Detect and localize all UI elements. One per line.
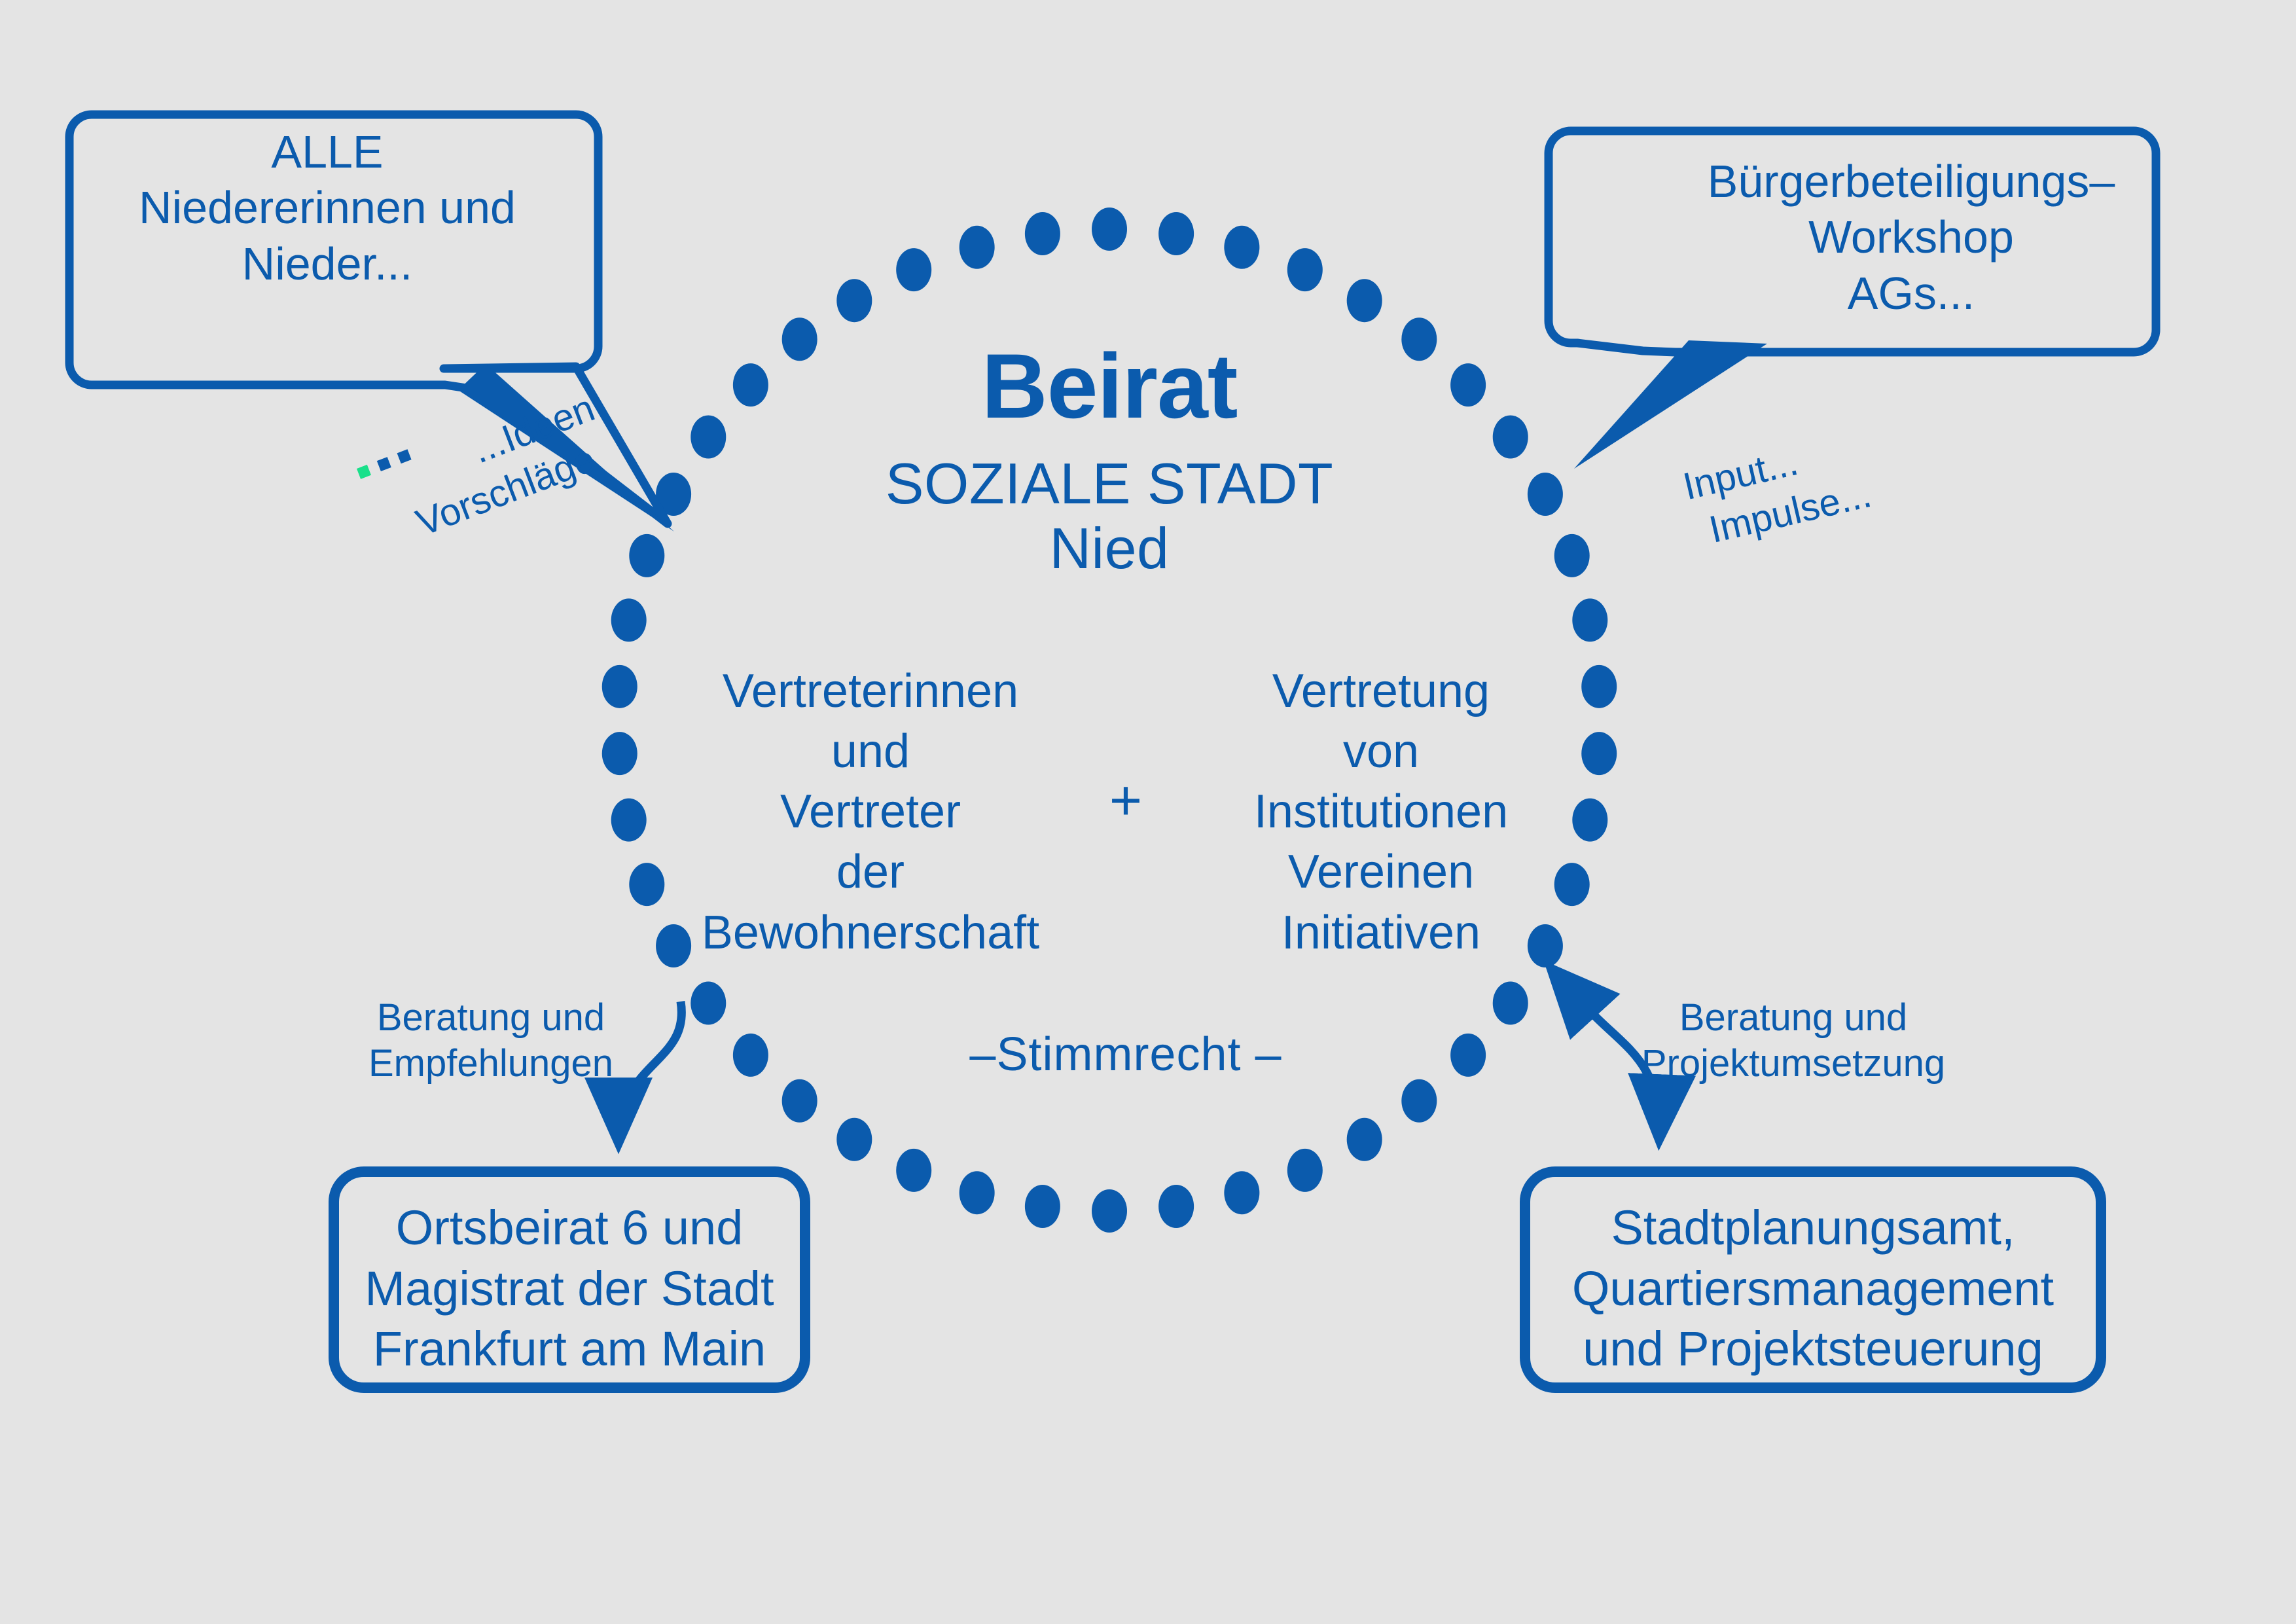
bubble-tr-line-2: Workshop bbox=[1682, 209, 2140, 265]
ring-dot bbox=[1554, 534, 1590, 577]
ring-dot bbox=[1025, 212, 1060, 255]
plus-operator: + bbox=[1073, 772, 1178, 829]
ring-dot bbox=[1287, 1149, 1323, 1192]
bubble-tl-line-2: Niedererinnen und bbox=[98, 180, 556, 236]
box-ortsbeirat-text: Ortsbeirat 6 und Magistrat der Stadt Fra… bbox=[340, 1198, 798, 1380]
box-bl-line-1: Ortsbeirat 6 und bbox=[340, 1198, 798, 1259]
annotation-br-line-2: Projektumsetzung bbox=[1630, 1041, 1957, 1087]
ring-dot bbox=[1092, 1189, 1127, 1233]
left-col-line-2: und bbox=[661, 721, 1080, 782]
ring-dot bbox=[1401, 1079, 1437, 1123]
ring-dot bbox=[629, 534, 664, 577]
box-bl-line-3: Frankfurt am Main bbox=[340, 1319, 798, 1380]
center-title: Beirat bbox=[779, 340, 1440, 432]
ring-dot bbox=[1450, 1034, 1486, 1077]
center-subtitle-line-2: Nied bbox=[746, 516, 1473, 581]
ring-dot bbox=[1025, 1185, 1060, 1228]
annotation-bottom-left: Beratung und Empfehlungen bbox=[353, 995, 628, 1086]
ring-dot bbox=[896, 248, 931, 291]
diagram-canvas: ALLE Niedererinnen und Nieder... Bürgerb… bbox=[0, 0, 2296, 1624]
ring-dot bbox=[1224, 226, 1259, 269]
box-br-line-2: Quartiersmanagement bbox=[1525, 1259, 2101, 1320]
ring-dot bbox=[602, 732, 637, 775]
ring-dot bbox=[836, 279, 872, 322]
ring-dot bbox=[611, 598, 647, 641]
bubble-tr-line-1: Bürgerbeteiligungs– bbox=[1682, 154, 2140, 209]
center-subtitle: SOZIALE STADT Nied bbox=[746, 452, 1473, 581]
center-footer-stimmrecht: –Stimmrecht – bbox=[910, 1031, 1342, 1078]
ring-dot bbox=[629, 863, 664, 906]
ring-dot bbox=[960, 226, 995, 269]
left-col-line-4: der bbox=[661, 842, 1080, 902]
ring-dot bbox=[733, 1034, 768, 1077]
ring-dot bbox=[691, 415, 726, 458]
right-col-line-5: Initiativen bbox=[1172, 903, 1590, 963]
ring-dot bbox=[1493, 982, 1528, 1025]
center-left-column: Vertreterinnen und Vertreter der Bewohne… bbox=[661, 661, 1080, 963]
ring-dot bbox=[1493, 415, 1528, 458]
bubble-tr-line-3: AGs... bbox=[1682, 266, 2140, 321]
right-col-line-2: von bbox=[1172, 721, 1590, 782]
bubble-tl-line-3: Nieder... bbox=[98, 236, 556, 292]
speech-bubble-top-left-text: ALLE Niedererinnen und Nieder... bbox=[98, 124, 556, 292]
left-col-line-1: Vertreterinnen bbox=[661, 661, 1080, 721]
speech-bubble-top-right-text: Bürgerbeteiligungs– Workshop AGs... bbox=[1682, 154, 2140, 321]
right-col-line-1: Vertretung bbox=[1172, 661, 1590, 721]
ring-dot bbox=[1450, 363, 1486, 406]
box-br-line-3: und Projektsteuerung bbox=[1525, 1319, 2101, 1380]
left-col-line-5: Bewohnerschaft bbox=[661, 903, 1080, 963]
annotation-bottom-right: Beratung und Projektumsetzung bbox=[1630, 995, 1957, 1086]
annotation-bl-line-2: Empfehlungen bbox=[353, 1041, 628, 1087]
box-bl-line-2: Magistrat der Stadt bbox=[340, 1259, 798, 1320]
left-col-line-3: Vertreter bbox=[661, 782, 1080, 842]
right-col-line-4: Vereinen bbox=[1172, 842, 1590, 902]
ring-dot bbox=[1572, 598, 1607, 641]
annotation-bl-line-1: Beratung und bbox=[353, 995, 628, 1041]
ring-dot bbox=[896, 1149, 931, 1192]
center-right-column: Vertretung von Institutionen Vereinen In… bbox=[1172, 661, 1590, 963]
ring-dot bbox=[1347, 279, 1382, 322]
ring-dot bbox=[1287, 248, 1323, 291]
bubble-tl-line-1: ALLE bbox=[98, 124, 556, 180]
center-subtitle-line-1: SOZIALE STADT bbox=[746, 452, 1473, 516]
ring-dot bbox=[691, 982, 726, 1025]
ring-dot bbox=[1224, 1171, 1259, 1214]
annotation-br-line-1: Beratung und bbox=[1630, 995, 1957, 1041]
ring-dot bbox=[1092, 208, 1127, 251]
ring-dot bbox=[733, 363, 768, 406]
ring-dot bbox=[782, 1079, 817, 1123]
right-col-line-3: Institutionen bbox=[1172, 782, 1590, 842]
ring-dot bbox=[1347, 1118, 1382, 1161]
ring-dot bbox=[836, 1118, 872, 1161]
ring-dot bbox=[1528, 473, 1563, 516]
ring-dot bbox=[960, 1171, 995, 1214]
ring-dot bbox=[602, 665, 637, 708]
box-stadtplanungsamt-text: Stadtplanungsamt, Quartiersmanagement un… bbox=[1525, 1198, 2101, 1380]
ring-dot bbox=[1158, 212, 1194, 255]
box-br-line-1: Stadtplanungsamt, bbox=[1525, 1198, 2101, 1259]
ring-dot bbox=[611, 799, 647, 842]
ring-dot bbox=[1158, 1185, 1194, 1228]
